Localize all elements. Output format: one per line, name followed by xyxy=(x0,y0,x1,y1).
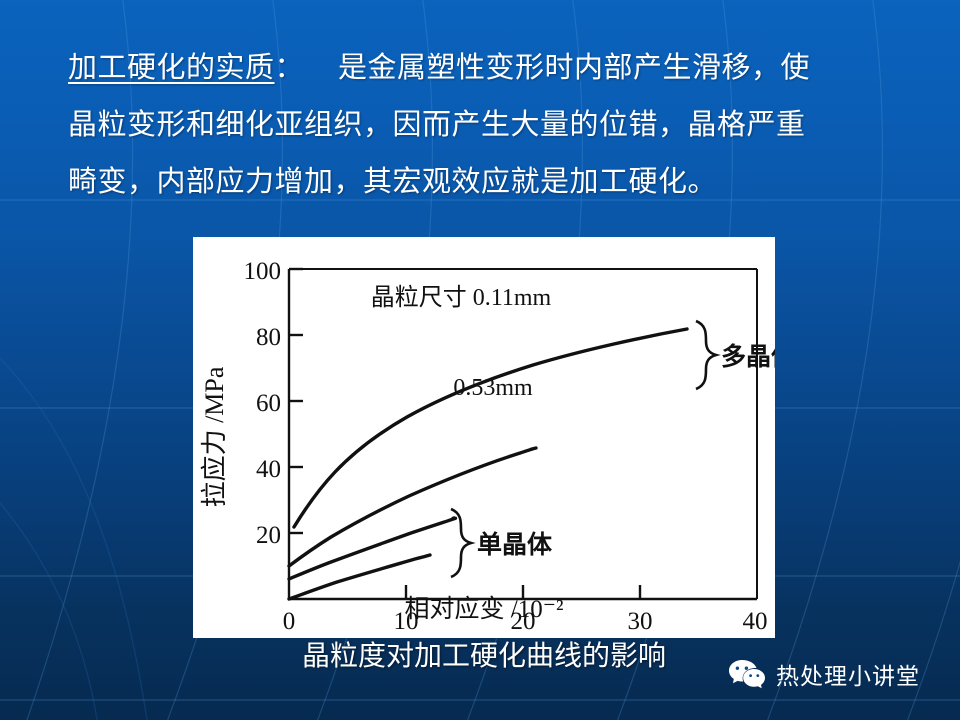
y-tick-label: 40 xyxy=(256,456,281,483)
polycrystal-brace-icon xyxy=(696,321,716,389)
body-line-1: 加工硬化的实质：是金属塑性变形时内部产生滑移，使 xyxy=(68,40,908,97)
figure-image: 100 80 60 40 20 0 10 20 30 40 拉应力 /MPa xyxy=(193,237,775,638)
annotation-grain-size-053: 0.53mm xyxy=(453,375,533,401)
y-axis-ticks xyxy=(289,269,303,533)
figure-caption: 晶粒度对加工硬化曲线的影响 xyxy=(193,640,775,674)
series-curve-grain-011 xyxy=(294,329,687,527)
y-tick-label: 20 xyxy=(256,522,281,549)
y-axis-title: 拉应力 /MPa xyxy=(200,366,229,507)
lead-colon: ： xyxy=(275,52,305,84)
annotation-grain-size-011: 晶粒尺寸 0.11mm xyxy=(371,284,552,311)
slide-body-text: 加工硬化的实质：是金属塑性变形时内部产生滑移，使 晶粒变形和细化亚组织，因而产生… xyxy=(68,40,908,211)
x-axis-title: 相对应变 /10⁻² xyxy=(193,589,775,625)
slide-canvas: 加工硬化的实质：是金属塑性变形时内部产生滑移，使 晶粒变形和细化亚组织，因而产生… xyxy=(0,0,960,720)
work-hardening-curves-chart: 100 80 60 40 20 0 10 20 30 40 拉应力 /MPa xyxy=(193,237,775,638)
watermark: 热处理小讲堂 xyxy=(728,657,920,691)
annotation-polycrystal: 多晶体 xyxy=(721,343,775,371)
watermark-label: 热处理小讲堂 xyxy=(776,657,920,691)
y-tick-label: 80 xyxy=(256,324,281,351)
y-tick-label: 60 xyxy=(256,390,281,417)
y-tick-label: 100 xyxy=(244,258,282,285)
body-line-1-rest: 是金属塑性变形时内部产生滑移，使 xyxy=(338,52,810,84)
annotation-singlecrystal: 单晶体 xyxy=(477,531,553,559)
body-line-3: 畸变，内部应力增加，其宏观效应就是加工硬化。 xyxy=(68,154,908,211)
wechat-icon xyxy=(728,658,766,690)
lead-term: 加工硬化的实质 xyxy=(68,52,275,84)
y-axis-tick-labels: 100 80 60 40 20 xyxy=(244,258,282,549)
body-line-2: 晶粒变形和细化亚组织，因而产生大量的位错，晶格严重 xyxy=(68,97,908,154)
